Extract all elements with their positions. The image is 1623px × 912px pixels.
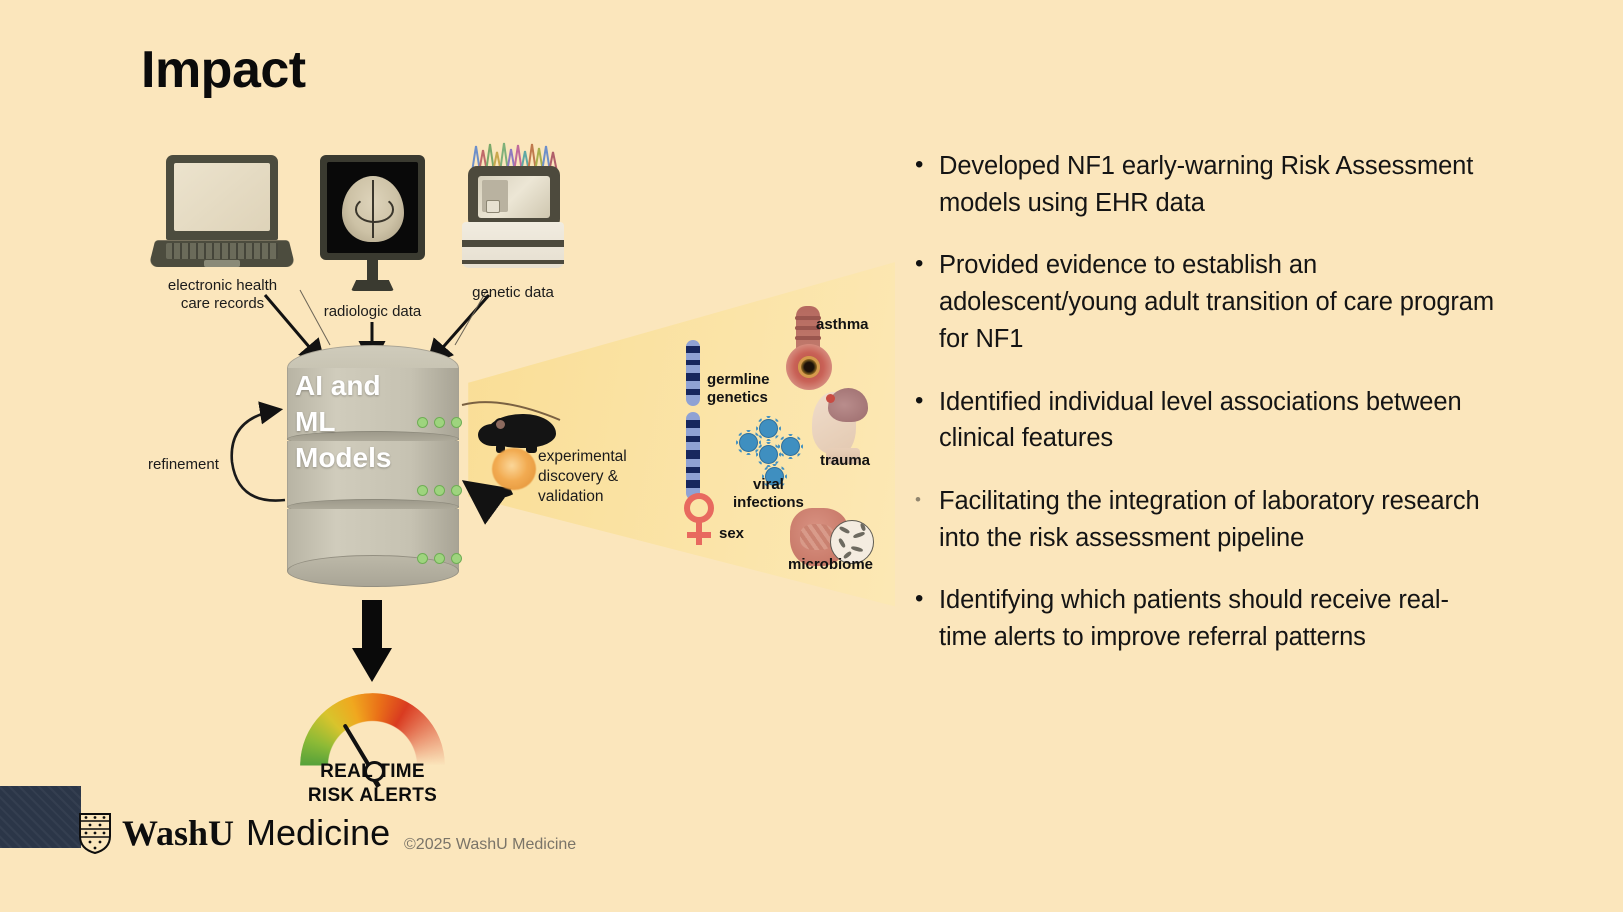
tumor-cell-icon xyxy=(492,448,536,490)
decorative-navy-square xyxy=(0,786,81,848)
gauge-label: REAL TIME RISK ALERTS xyxy=(280,760,465,808)
experimental-label: experimental discovery & validation xyxy=(538,447,627,506)
database-cylinder-icon xyxy=(287,345,459,593)
copyright-text: ©2025 WashU Medicine xyxy=(404,836,576,854)
list-item: • Identified individual level associatio… xyxy=(905,384,1495,457)
bullet-text: Developed NF1 early-warning Risk Assessm… xyxy=(939,148,1495,221)
bullet-text: Provided evidence to establish an adoles… xyxy=(939,247,1495,357)
list-item: • Developed NF1 early-warning Risk Asses… xyxy=(905,148,1495,221)
head-brain-icon xyxy=(812,388,872,462)
bullet-text: Facilitating the integration of laborato… xyxy=(939,483,1495,556)
chromosome-icon xyxy=(686,340,700,500)
source-label-ehr: electronic health care records xyxy=(155,277,290,312)
list-item: • Identifying which patients should rece… xyxy=(905,582,1495,655)
risk-label-trauma: trauma xyxy=(820,452,870,470)
logo-medicine-text: Medicine xyxy=(246,812,390,853)
down-arrow-icon xyxy=(352,600,392,682)
refinement-label: refinement xyxy=(148,456,219,473)
bullet-marker: • xyxy=(905,247,939,281)
bullet-text: Identifying which patients should receiv… xyxy=(939,582,1495,655)
source-label-genetic: genetic data xyxy=(452,284,574,302)
bullet-marker: • xyxy=(905,384,939,418)
risk-label-germline-genetics: germline genetics xyxy=(707,371,770,407)
risk-label-microbiome: microbiome xyxy=(788,556,873,574)
female-symbol-icon xyxy=(682,493,716,545)
bullet-marker: • xyxy=(905,483,939,517)
bullet-marker: • xyxy=(905,148,939,182)
bullet-text: Identified individual level associations… xyxy=(939,384,1495,457)
risk-label-sex: sex xyxy=(719,525,744,543)
risk-label-asthma: asthma xyxy=(816,316,869,334)
bullet-marker: • xyxy=(905,582,939,616)
logo-washu-text: WashU xyxy=(122,813,234,853)
laptop-icon xyxy=(152,155,292,275)
slide-canvas: Impact electronic health care records xyxy=(0,0,1623,912)
brain-mri-monitor-icon xyxy=(320,155,425,295)
dna-sequencer-icon xyxy=(462,140,564,270)
page-title: Impact xyxy=(141,44,306,96)
washu-medicine-logo: WashUMedicine xyxy=(78,812,390,854)
washu-shield-icon xyxy=(78,812,112,854)
impact-bullet-list: • Developed NF1 early-warning Risk Asses… xyxy=(905,148,1495,682)
source-label-radiologic: radiologic data xyxy=(300,303,445,321)
washu-medicine-wordmark: WashUMedicine xyxy=(122,812,390,854)
list-item: • Provided evidence to establish an adol… xyxy=(905,247,1495,357)
risk-label-viral-infections: viral infections xyxy=(733,476,804,512)
list-item: • Facilitating the integration of labora… xyxy=(905,483,1495,556)
